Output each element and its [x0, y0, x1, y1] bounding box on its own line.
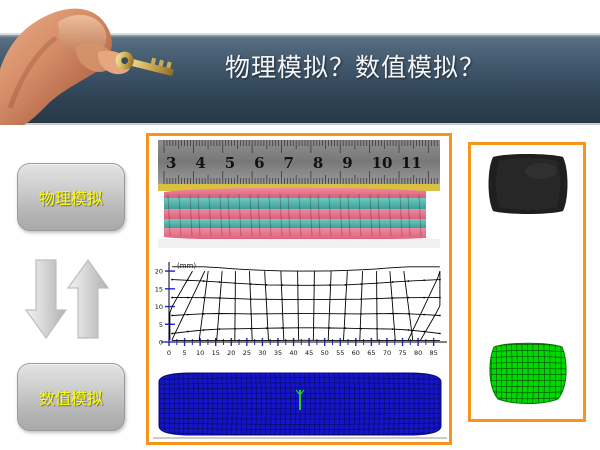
svg-text:65: 65 — [367, 349, 375, 357]
slide-root: 物理模拟？数值模拟？ 物理模拟 数值模拟 — [0, 0, 600, 450]
fem-mesh-chart — [151, 368, 449, 440]
specimen-photo: 34567891011 — [158, 140, 440, 248]
svg-text:60: 60 — [352, 349, 360, 357]
svg-text:6: 6 — [254, 154, 264, 172]
svg-text:75: 75 — [398, 349, 406, 357]
svg-text:20: 20 — [155, 268, 163, 276]
arrow-group — [22, 258, 122, 343]
svg-text:4: 4 — [195, 154, 205, 172]
svg-text:10: 10 — [372, 154, 393, 172]
svg-text:85: 85 — [430, 349, 438, 357]
svg-text:3: 3 — [166, 154, 176, 172]
svg-text:50: 50 — [321, 349, 329, 357]
physical-simulation-label: 物理模拟 — [39, 185, 103, 209]
svg-text:15: 15 — [212, 349, 220, 357]
hand-holding-key-image — [0, 0, 210, 125]
svg-text:45: 45 — [305, 349, 313, 357]
center-panel: 34567891011 05101520 0510152025303540455… — [146, 133, 452, 445]
svg-text:8: 8 — [313, 154, 323, 172]
svg-text:(mm): (mm) — [177, 262, 196, 270]
page-title: 物理模拟？数值模拟？ — [190, 48, 520, 84]
svg-text:10: 10 — [155, 303, 163, 311]
svg-text:11: 11 — [401, 154, 422, 172]
svg-text:35: 35 — [274, 349, 282, 357]
svg-text:10: 10 — [196, 349, 204, 357]
green-meshed-barrel-image — [484, 339, 572, 407]
svg-text:30: 30 — [258, 349, 266, 357]
svg-text:5: 5 — [182, 349, 186, 357]
deformed-mesh-chart: 05101520 0510152025303540455055606570758… — [151, 256, 449, 358]
svg-text:40: 40 — [289, 349, 297, 357]
svg-text:5: 5 — [159, 321, 163, 329]
numerical-simulation-button[interactable]: 数值模拟 — [17, 363, 125, 431]
numerical-simulation-label: 数值模拟 — [39, 385, 103, 409]
svg-text:9: 9 — [342, 154, 352, 172]
down-arrow-icon — [26, 260, 66, 338]
right-panel — [468, 142, 586, 422]
svg-text:20: 20 — [227, 349, 235, 357]
svg-text:0: 0 — [167, 349, 171, 357]
svg-text:25: 25 — [243, 349, 251, 357]
svg-text:0: 0 — [159, 339, 163, 347]
svg-text:15: 15 — [155, 285, 163, 293]
svg-text:55: 55 — [336, 349, 344, 357]
svg-text:5: 5 — [225, 154, 235, 172]
svg-text:7: 7 — [284, 154, 294, 172]
svg-text:70: 70 — [383, 349, 391, 357]
physical-simulation-button[interactable]: 物理模拟 — [17, 163, 125, 231]
svg-text:80: 80 — [414, 349, 422, 357]
black-barrel-specimen-image — [485, 151, 571, 217]
up-arrow-icon — [68, 260, 108, 338]
